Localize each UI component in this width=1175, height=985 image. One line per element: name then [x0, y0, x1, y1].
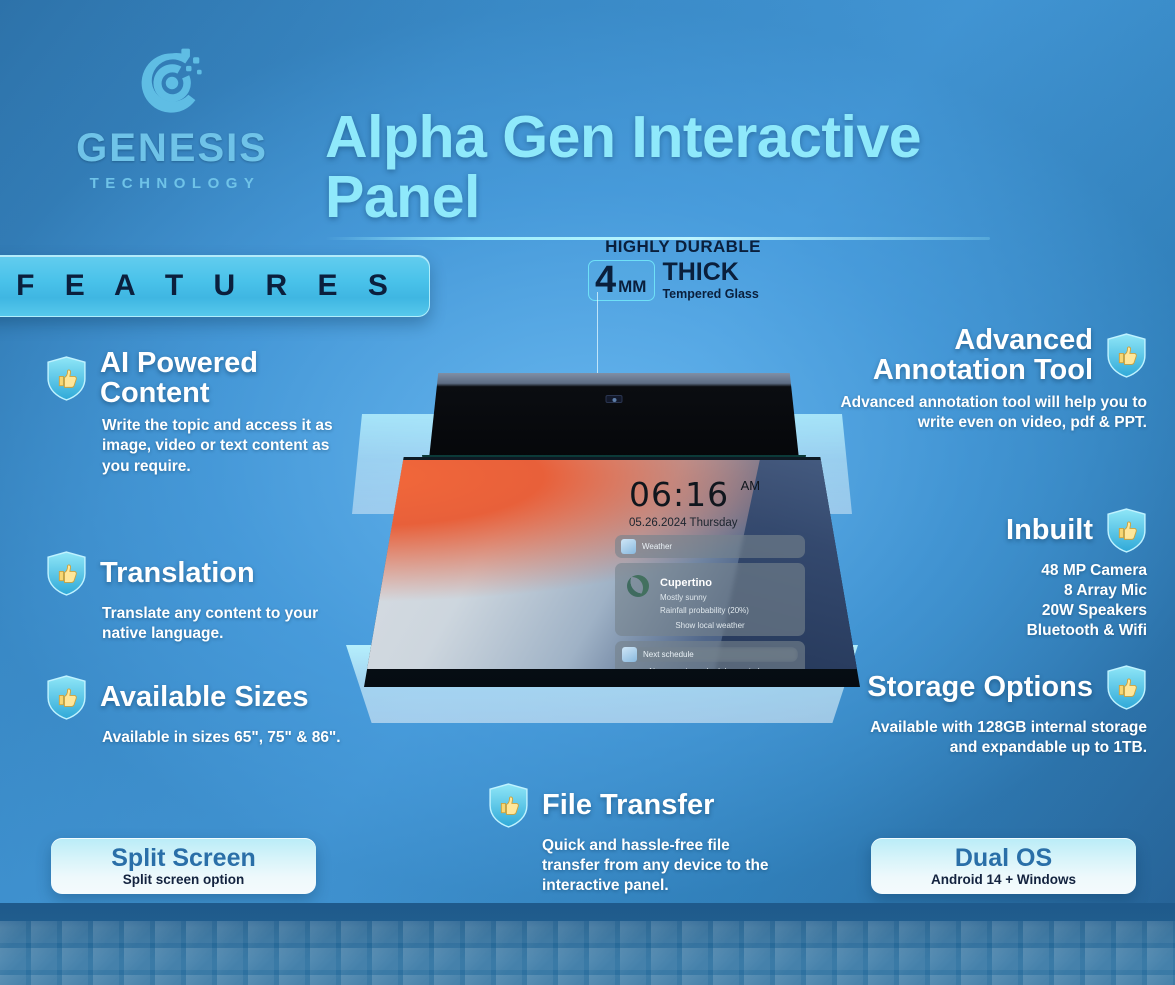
weather-rainfall: Rainfall probability (20%) [660, 606, 749, 617]
brand-logo: GENESIS TECHNOLOGY [72, 44, 272, 192]
brand-tagline: TECHNOLOGY [72, 175, 272, 192]
panel-display: 06:16 AM 05.26.2024 Thursday Weather [367, 460, 857, 669]
screen-clock: 06:16 AM 05.26.2024 Thursday [629, 478, 760, 529]
feature-title: Available Sizes [100, 682, 308, 712]
feature-body: 48 MP Camera 8 Array Mic 20W Speakers Bl… [857, 561, 1147, 642]
weather-icon [621, 539, 636, 554]
feature-body: Available in sizes 65", 75" & 86". [102, 728, 376, 748]
callout-headline: HIGHLY DURABLE [588, 238, 778, 255]
panel-camera-icon [606, 395, 623, 403]
schedule-widget[interactable]: Next schedule No upcoming schedule, remi… [615, 641, 805, 669]
feature-title: File Transfer [542, 790, 714, 820]
screen-widgets: Weather Cupertino Mostly sunny Rainfall … [615, 535, 805, 669]
calendar-icon [622, 647, 637, 662]
page-title-text: Alpha Gen Interactive Panel [325, 107, 1035, 227]
feature-ai-powered-content: AI Powered Content Write the topic and a… [46, 348, 346, 477]
feature-body: Quick and hassle-free file transfer from… [542, 836, 788, 896]
badge-subtitle: Android 14 + Windows [931, 872, 1076, 887]
page-title: Alpha Gen Interactive Panel [325, 107, 1035, 240]
weather-widget-label: Weather [642, 542, 672, 551]
moon-icon [625, 573, 651, 599]
features-banner-label: F E A T U R E S [5, 269, 399, 303]
feature-file-transfer: File Transfer Quick and hassle-free file… [488, 783, 788, 896]
feature-advanced-annotation-tool: Advanced Annotation Tool Advanced annota… [827, 325, 1147, 434]
clock-time: 06:16 [629, 475, 729, 514]
brand-name: GENESIS [72, 128, 272, 168]
panel-rear-shell [429, 373, 799, 459]
feature-inbuilt: Inbuilt 48 MP Camera 8 Array Mic 20W Spe… [857, 508, 1147, 642]
weather-link[interactable]: Show local weather [622, 621, 798, 630]
feature-body: Advanced annotation tool will help you t… [827, 393, 1147, 433]
interactive-panel-illustration: 06:16 AM 05.26.2024 Thursday Weather [330, 355, 875, 745]
clock-ampm: AM [741, 478, 761, 493]
thickness-value-box: 4 MM [588, 260, 655, 301]
infographic-canvas: GENESIS TECHNOLOGY Alpha Gen Interactive… [0, 0, 1175, 985]
weather-city: Cupertino [660, 577, 712, 589]
weather-widget-header[interactable]: Weather [615, 535, 805, 558]
badge-title: Dual OS [955, 845, 1052, 871]
feature-body: Translate any content to your native lan… [102, 604, 346, 644]
badge-title: Split Screen [111, 845, 256, 871]
shield-thumbs-up-icon [46, 356, 87, 401]
thickness-value: 4 [595, 262, 616, 298]
feature-translation: Translation Translate any content to you… [46, 551, 346, 644]
callout-thick-label: THICK [662, 260, 758, 285]
shield-thumbs-up-icon [1106, 333, 1147, 378]
weather-condition: Mostly sunny [660, 593, 749, 604]
feature-title: Advanced Annotation Tool [827, 325, 1093, 385]
weather-widget[interactable]: Cupertino Mostly sunny Rainfall probabil… [615, 563, 805, 636]
thickness-unit: MM [618, 277, 646, 297]
genesis-circuit-icon [133, 44, 211, 122]
feature-body: Write the topic and access it as image, … [102, 416, 346, 476]
schedule-label: Next schedule [643, 650, 694, 659]
feature-available-sizes: Available Sizes Available in sizes 65", … [46, 675, 376, 748]
shield-thumbs-up-icon [46, 551, 87, 596]
shield-thumbs-up-icon [1106, 508, 1147, 553]
band-fade [0, 903, 1175, 985]
badge-split-screen[interactable]: Split Screen Split screen option [51, 838, 316, 894]
clock-date: 05.26.2024 Thursday [629, 517, 760, 529]
feature-body: Available with 128GB internal storage an… [847, 718, 1147, 758]
callout-material: Tempered Glass [662, 288, 758, 301]
thickness-callout: HIGHLY DURABLE 4 MM THICK Tempered Glass [588, 238, 778, 301]
shield-thumbs-up-icon [488, 783, 529, 828]
bottom-decorative-band [0, 903, 1175, 985]
feature-title: AI Powered Content [100, 348, 346, 408]
feature-storage-options: Storage Options Available with 128GB int… [847, 665, 1147, 758]
panel-display-shell: 06:16 AM 05.26.2024 Thursday Weather [364, 457, 860, 687]
features-banner: F E A T U R E S [0, 255, 430, 317]
badge-subtitle: Split screen option [123, 872, 245, 887]
feature-title: Storage Options [867, 672, 1093, 702]
shield-thumbs-up-icon [1106, 665, 1147, 710]
schedule-text: No upcoming schedule, reminders [622, 667, 798, 669]
badge-dual-os[interactable]: Dual OS Android 14 + Windows [871, 838, 1136, 894]
feature-title: Inbuilt [1006, 515, 1093, 545]
shield-thumbs-up-icon [46, 675, 87, 720]
feature-title: Translation [100, 558, 255, 588]
